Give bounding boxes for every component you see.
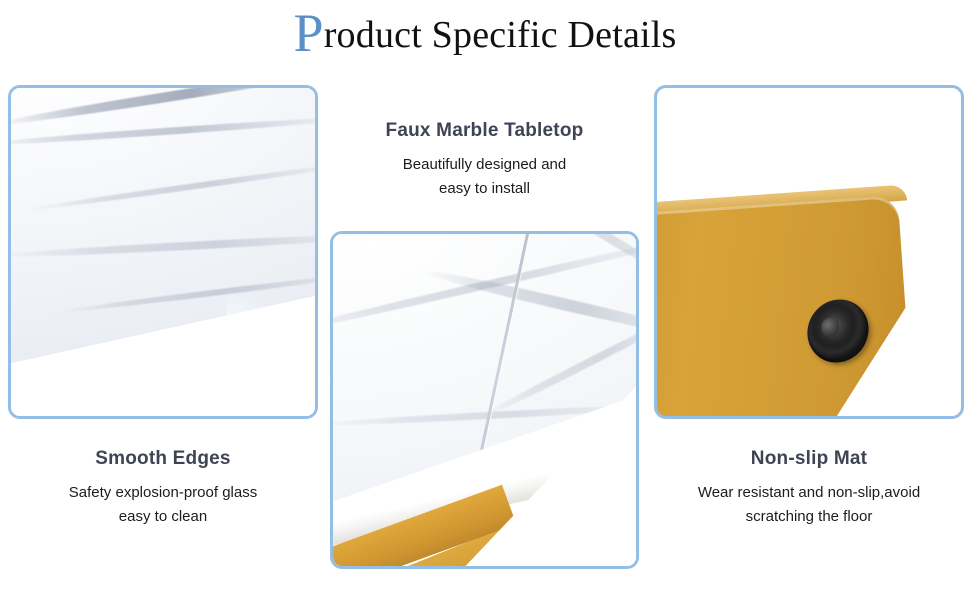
corner-highlight <box>218 234 318 419</box>
marble-vein <box>8 114 318 147</box>
caption-body: Wear resistant and non-slip,avoid scratc… <box>654 481 964 529</box>
marble-vein <box>25 160 318 213</box>
caption-body-line: easy to clean <box>8 505 318 529</box>
gold-leg-group <box>333 386 636 566</box>
caption-body-line: Beautifully designed and <box>330 153 639 177</box>
caption-non-slip-mat: Non-slip Mat Wear resistant and non-slip… <box>654 446 964 529</box>
tabletop-corner-image <box>11 88 315 416</box>
caption-body: Beautifully designed and easy to install <box>330 153 639 201</box>
photo-panel-faux-marble-tabletop <box>330 231 639 569</box>
caption-body-line: scratching the floor <box>654 505 964 529</box>
caption-heading: Smooth Edges <box>8 446 318 472</box>
caption-body: Safety explosion-proof glass easy to cle… <box>8 481 318 529</box>
photo-panel-non-slip-mat <box>654 85 964 419</box>
caption-heading: Faux Marble Tabletop <box>330 118 639 144</box>
caption-heading: Non-slip Mat <box>654 446 964 472</box>
title-text: roduct Specific Details <box>324 14 677 56</box>
caption-body-line: Safety explosion-proof glass <box>8 481 318 505</box>
caption-body-line: Wear resistant and non-slip,avoid <box>654 481 964 505</box>
caption-smooth-edges: Smooth Edges Safety explosion-proof glas… <box>8 446 318 529</box>
page-title: Product Specific Details <box>0 6 970 64</box>
title-dropcap: P <box>293 3 323 63</box>
caption-faux-marble-tabletop: Faux Marble Tabletop Beautifully designe… <box>330 118 639 201</box>
marble-vein <box>330 231 639 235</box>
photo-panel-smooth-edges <box>8 85 318 419</box>
caption-body-line: easy to install <box>330 177 639 201</box>
